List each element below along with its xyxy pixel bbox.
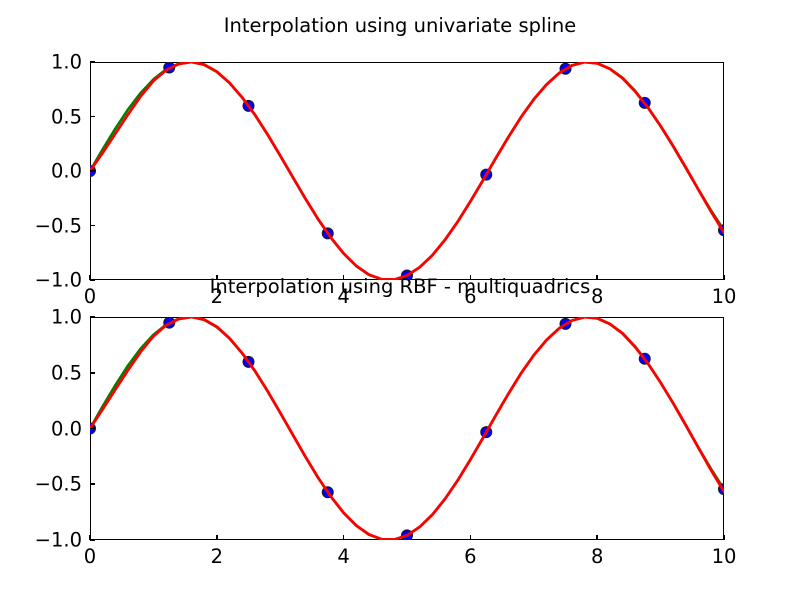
- x-tick-mark: [216, 535, 218, 540]
- y-tick-label: −0.5: [0, 473, 82, 496]
- subplot-rbf-multiquadrics: Interpolation using RBF - multiquadrics …: [0, 0, 800, 600]
- figure-canvas: Interpolation using univariate spline −1…: [0, 0, 800, 600]
- series-markers-2: [85, 317, 730, 541]
- y-tick-mark: [90, 428, 95, 430]
- plot-area-2: [0, 0, 800, 600]
- y-tick-mark: [90, 316, 95, 318]
- x-tick-label: 6: [464, 545, 476, 568]
- x-tick-mark: [343, 535, 345, 540]
- x-tick-label: 8: [591, 545, 603, 568]
- y-tick-label: 0.0: [0, 417, 82, 440]
- series-line-0: [90, 317, 724, 540]
- x-tick-label: 4: [337, 545, 349, 568]
- y-tick-label: 1.0: [0, 306, 82, 329]
- x-tick-label: 0: [84, 545, 96, 568]
- y-tick-mark: [90, 372, 95, 374]
- x-tick-mark: [596, 535, 598, 540]
- x-tick-mark: [723, 535, 725, 540]
- x-tick-mark: [89, 535, 91, 540]
- y-tick-mark: [90, 483, 95, 485]
- y-tick-label: −1.0: [0, 529, 82, 552]
- y-tick-label: 0.5: [0, 361, 82, 384]
- x-tick-mark: [470, 535, 472, 540]
- x-tick-label: 10: [712, 545, 737, 568]
- x-tick-label: 2: [211, 545, 223, 568]
- series-line-1: [90, 317, 724, 540]
